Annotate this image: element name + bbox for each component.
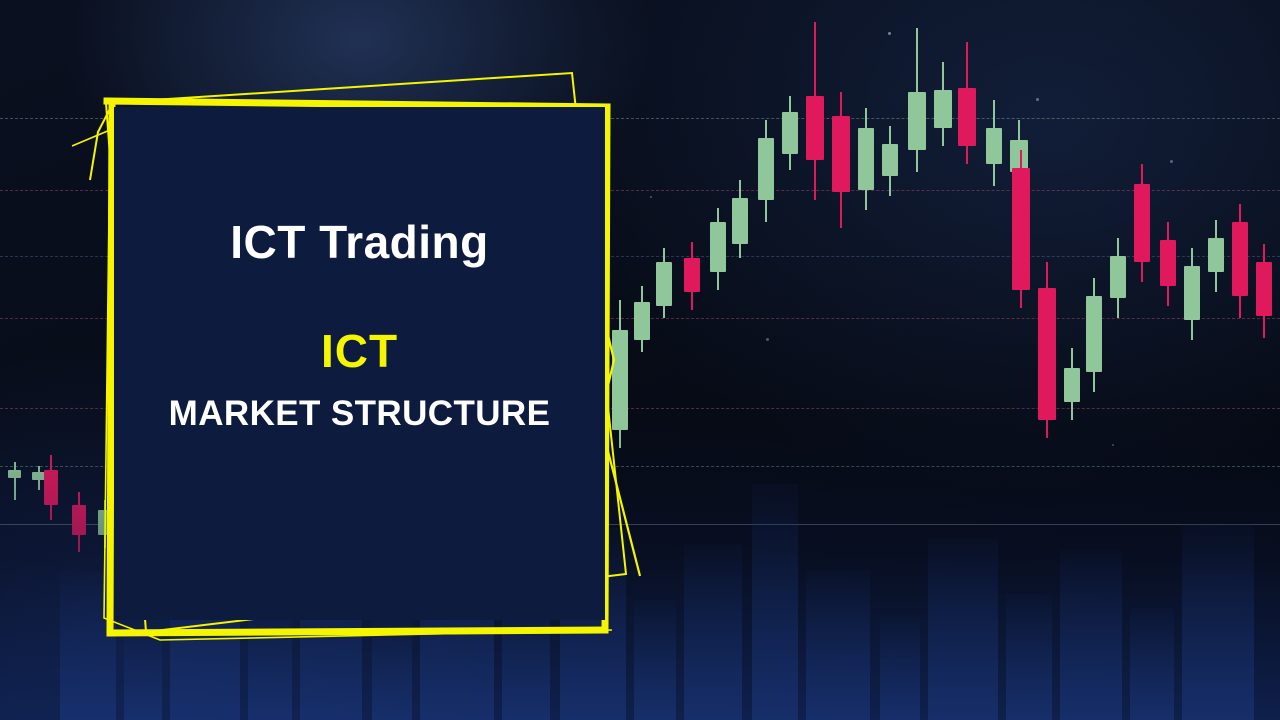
candle	[1256, 244, 1272, 338]
candle	[1160, 222, 1176, 306]
title-card: ICT Trading ICT MARKET STRUCTURE	[114, 107, 605, 620]
candle-body	[1232, 222, 1248, 296]
candle	[1110, 238, 1126, 318]
candle	[858, 108, 874, 210]
candle	[882, 126, 898, 196]
sparkle-dot	[1112, 444, 1114, 446]
candle	[684, 242, 700, 310]
candle	[758, 120, 774, 222]
slide-canvas: ICT Trading ICT MARKET STRUCTURE	[0, 0, 1280, 720]
candle	[986, 100, 1002, 186]
sparkle-dot	[1170, 160, 1173, 163]
candle-body	[1038, 288, 1056, 420]
candle-body	[806, 96, 824, 160]
candle	[656, 248, 672, 318]
candle-body	[684, 258, 700, 292]
candle	[934, 62, 952, 146]
candle	[832, 92, 850, 228]
candle	[732, 180, 748, 258]
candle	[1064, 348, 1080, 420]
candle	[1012, 150, 1030, 308]
candle	[908, 28, 926, 172]
candle-body	[782, 112, 798, 154]
candle	[1038, 262, 1056, 438]
candle-body	[1012, 168, 1030, 290]
sparkle-dot	[766, 338, 769, 341]
candle-body	[758, 138, 774, 200]
candle	[806, 22, 824, 200]
candle	[782, 96, 798, 170]
candle-body	[958, 88, 976, 146]
candle-body	[732, 198, 748, 244]
candle	[958, 42, 976, 164]
sparkle-dot	[1036, 98, 1039, 101]
candle-body	[858, 128, 874, 190]
candle	[1232, 204, 1248, 318]
subheadline: MARKET STRUCTURE	[169, 396, 551, 431]
candle-body	[832, 116, 850, 192]
candle-body	[1208, 238, 1224, 272]
candle-body	[1184, 266, 1200, 320]
candle	[1208, 220, 1224, 292]
candle	[634, 286, 650, 352]
candle-body	[1110, 256, 1126, 298]
candle	[1184, 248, 1200, 340]
candle-body	[710, 222, 726, 272]
candle-body	[634, 302, 650, 340]
candle-body	[986, 128, 1002, 164]
sparkle-dot	[888, 32, 891, 35]
candle-body	[1086, 296, 1102, 372]
candle-body	[1256, 262, 1272, 316]
candle-body	[1064, 368, 1080, 402]
candle	[1086, 278, 1102, 392]
candle-body	[1134, 184, 1150, 262]
candle-body	[656, 262, 672, 306]
headline-ict: ICT	[321, 328, 398, 374]
candle-body	[612, 330, 628, 430]
candle-body	[882, 144, 898, 176]
candle-body	[1160, 240, 1176, 286]
brand-title: ICT Trading	[230, 219, 489, 265]
candle-body	[934, 90, 952, 128]
candle-body	[908, 92, 926, 150]
sparkle-dot	[650, 196, 652, 198]
candle	[1134, 164, 1150, 282]
candle	[710, 208, 726, 290]
